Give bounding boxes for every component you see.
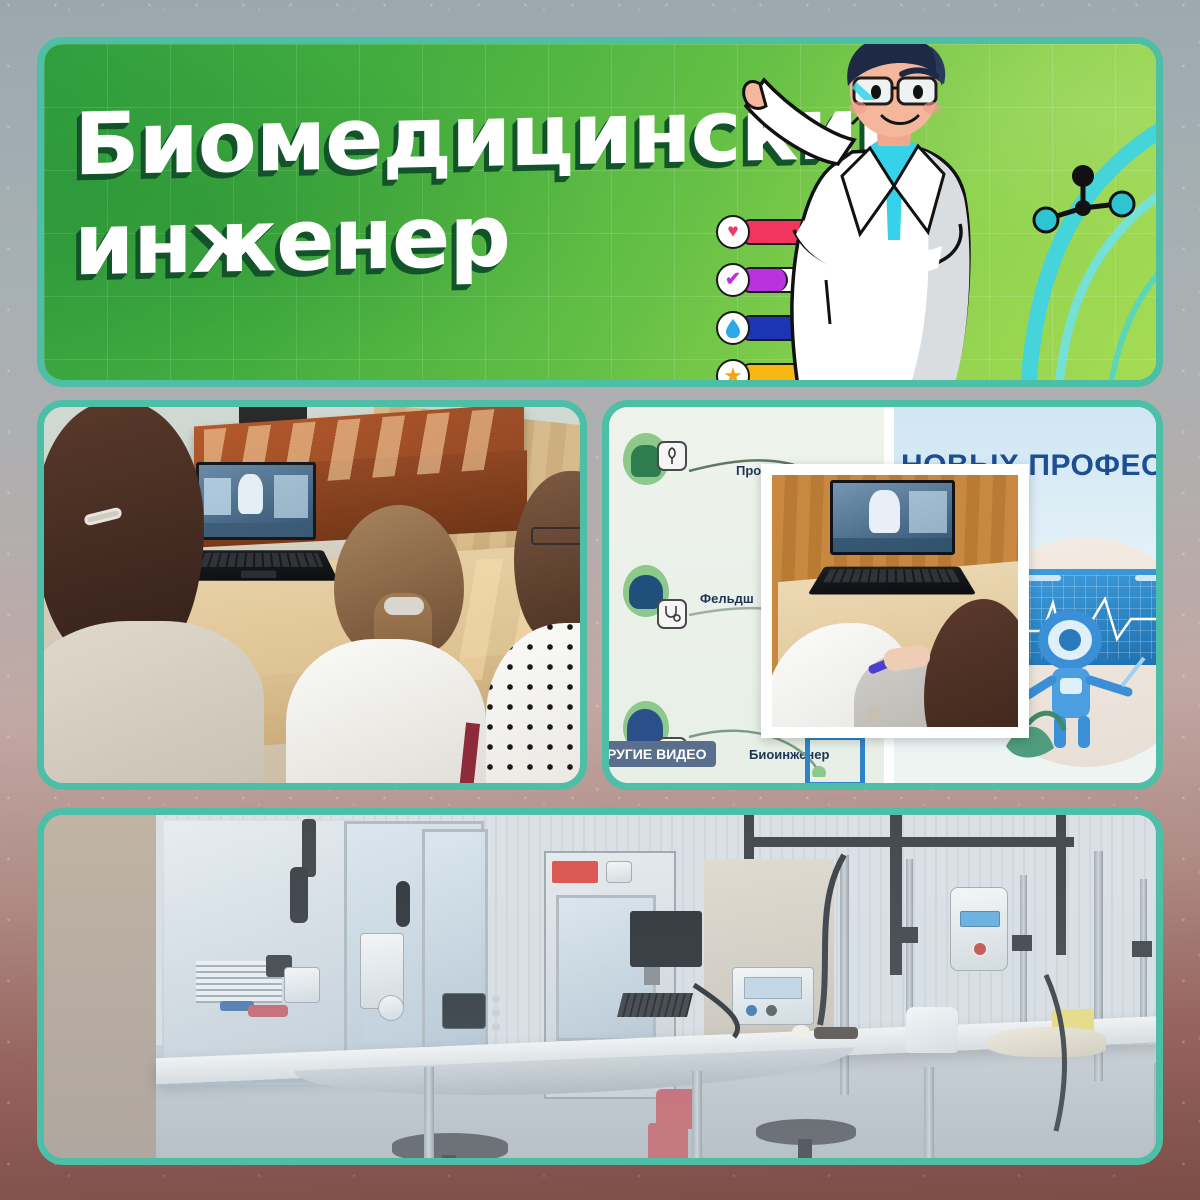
- photo-classroom: [37, 400, 587, 790]
- laboratory-scene: [44, 815, 1156, 1158]
- water-drop-icon: [716, 311, 750, 345]
- photo-presentation-screen: Пров Фельдш Биоинженер РУГИЕ ВИДЕО НОВЫХ…: [602, 400, 1163, 790]
- presentation-scene: Пров Фельдш Биоинженер РУГИЕ ВИДЕО НОВЫХ…: [609, 407, 1156, 783]
- inset-laptop-keyboard: [808, 567, 977, 595]
- inset-photo: [761, 464, 1029, 738]
- inset-photo-image: [772, 475, 1018, 727]
- banner-card: Биомедицинский инженер ♥ ✔: [37, 37, 1163, 387]
- student-middle-body: [286, 639, 486, 790]
- glasses-icon: [531, 527, 583, 545]
- slide-frame-decoration: [805, 735, 865, 787]
- scientist-illustration: [742, 37, 1072, 386]
- hair-tie: [384, 597, 424, 615]
- student-left-body: [37, 621, 264, 790]
- other-videos-button[interactable]: РУГИЕ ВИДЕО: [602, 741, 716, 767]
- inset-button: [868, 707, 882, 721]
- photo-laboratory: [37, 808, 1163, 1165]
- inset-laptop-screen: [830, 480, 955, 555]
- heart-icon: ♥: [716, 215, 750, 249]
- classroom-scene: [44, 407, 580, 783]
- laptop-screen: [196, 462, 316, 540]
- check-icon: ✔: [716, 263, 750, 297]
